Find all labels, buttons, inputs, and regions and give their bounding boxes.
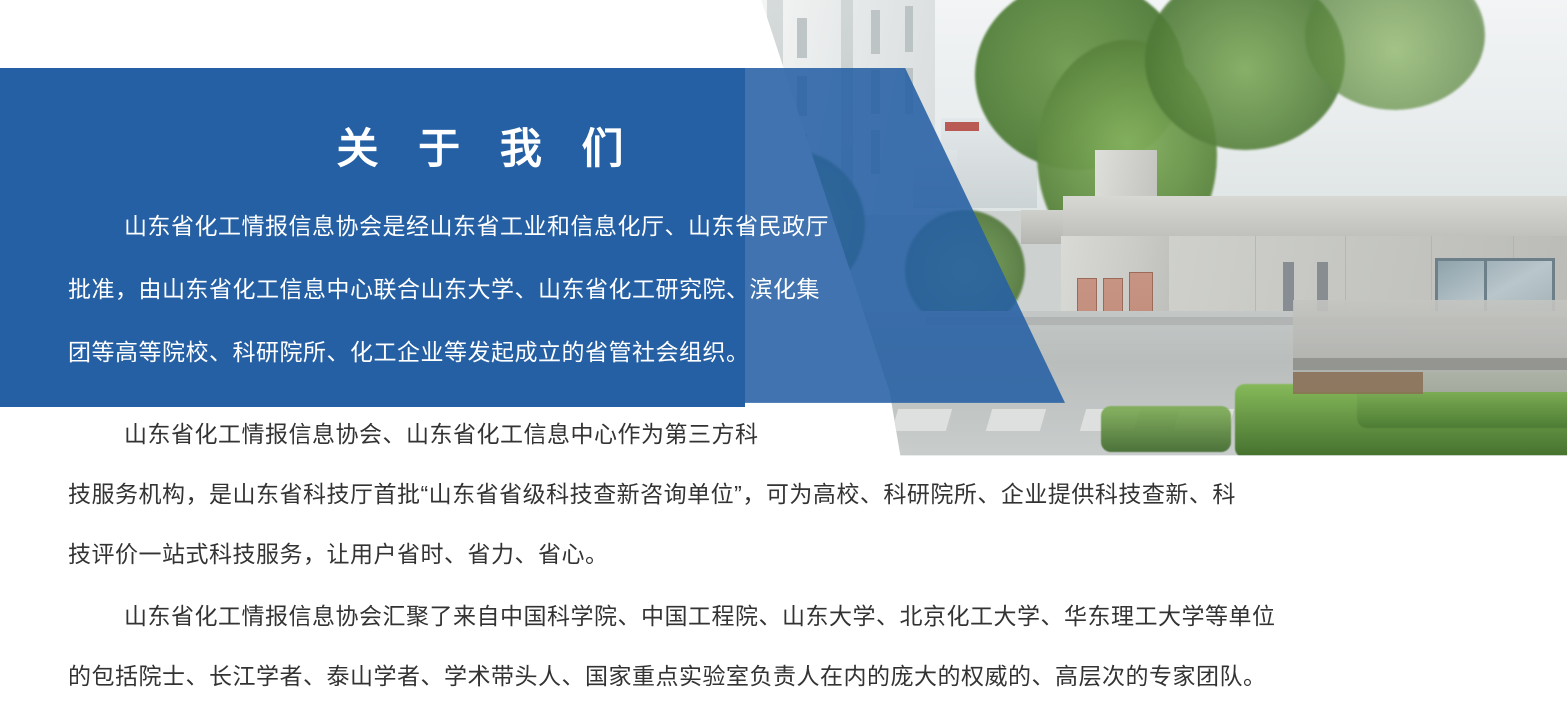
back-wall-trim <box>1293 358 1567 370</box>
window <box>797 18 807 58</box>
body-paragraph-3: 山东省化工情报信息协会汇聚了来自中国科学院、中国工程院、山东大学、北京化工大学、… <box>68 586 1508 706</box>
bench <box>1293 372 1423 394</box>
intro-line: 山东省化工情报信息协会是经山东省工业和信息化厅、山东省民政厅 <box>68 195 968 258</box>
body-line: 技服务机构，是山东省科技厅首批“山东省省级科技查新咨询单位”，可为高校、科研院所… <box>68 464 1508 524</box>
body-line: 的包括院士、长江学者、泰山学者、学术带头人、国家重点实验室负责人在内的庞大的权威… <box>68 646 1508 706</box>
page-title: 关 于 我 们 <box>0 128 960 170</box>
body-paragraph-2: 山东省化工情报信息协会、山东省化工信息中心作为第三方科 技服务机构，是山东省科技… <box>68 404 1508 584</box>
window <box>871 10 880 54</box>
gate-canopy <box>1063 196 1567 238</box>
about-us-section: 关 于 我 们 山东省化工情报信息协会是经山东省工业和信息化厅、山东省民政厅 批… <box>0 0 1567 707</box>
window <box>905 6 913 52</box>
body-line: 山东省化工情报信息协会、山东省化工信息中心作为第三方科 <box>68 404 1508 464</box>
intro-line: 团等高等院校、科研院所、化工企业等发起成立的省管社会组织。 <box>68 321 968 384</box>
body-line: 山东省化工情报信息协会汇聚了来自中国科学院、中国工程院、山东大学、北京化工大学、… <box>68 586 1508 646</box>
body-line: 技评价一站式科技服务，让用户省时、省力、省心。 <box>68 524 1508 584</box>
intro-paragraph: 山东省化工情报信息协会是经山东省工业和信息化厅、山东省民政厅 批准，由山东省化工… <box>68 195 968 384</box>
intro-line: 批准，由山东省化工信息中心联合山东大学、山东省化工研究院、滨化集 <box>68 258 968 321</box>
